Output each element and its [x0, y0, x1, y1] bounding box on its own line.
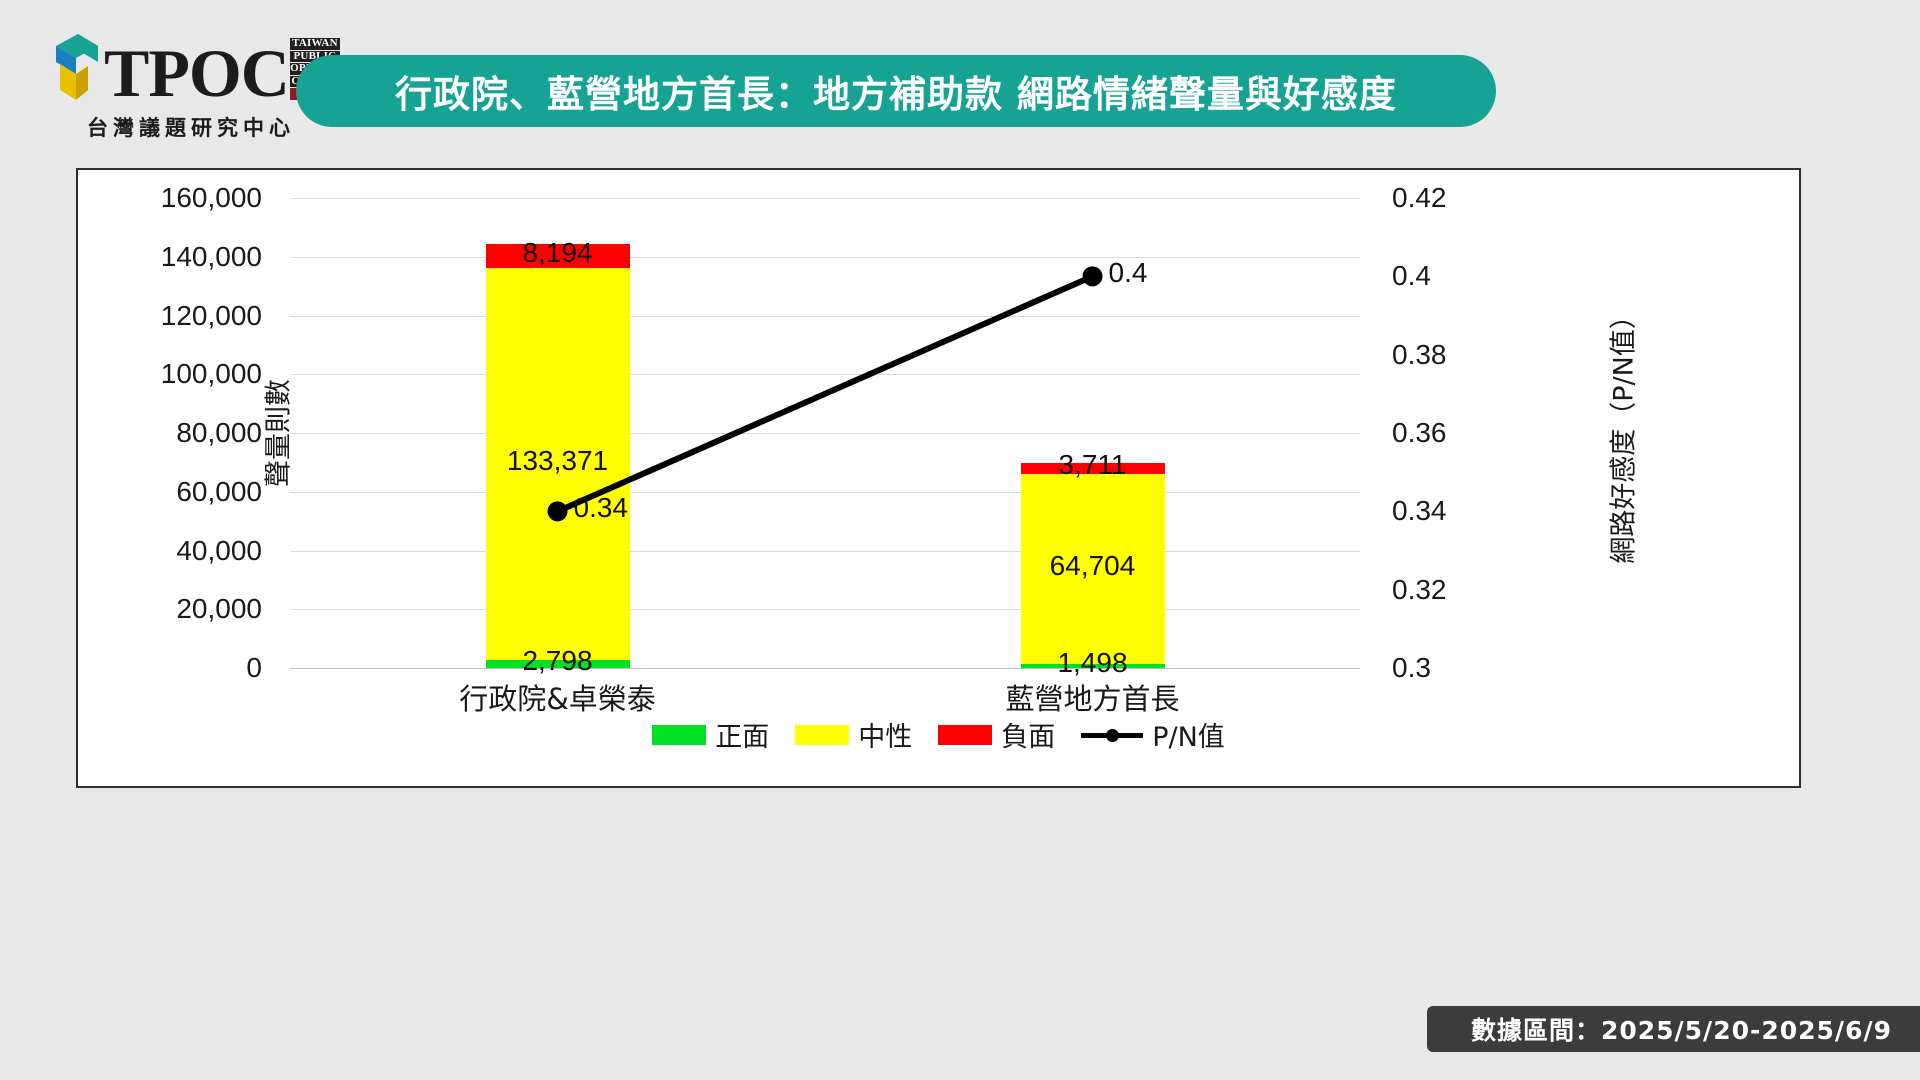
- legend-label: 正面: [715, 715, 769, 754]
- legend-item[interactable]: P/N值: [1081, 715, 1225, 754]
- x-axis-category-label: 藍營地方首長: [943, 676, 1243, 718]
- y2-axis-tick: 0.34: [1370, 495, 1550, 527]
- y-axis-tick: 60,000: [92, 476, 262, 508]
- y2-axis-tick: 0.36: [1370, 417, 1550, 449]
- x-axis-category-label: 行政院&卓榮泰: [408, 676, 708, 718]
- legend-swatch: [795, 725, 849, 745]
- slide-header: TPOC TAIWAN PUBLIC OPINION CENTER 台灣議題研究…: [0, 0, 1920, 175]
- plot-area: 020,00040,00060,00080,000100,000120,0001…: [290, 198, 1360, 668]
- legend-label: P/N值: [1152, 715, 1225, 754]
- y2-axis-tick: 0.38: [1370, 339, 1550, 371]
- y2-axis-tick: 0.32: [1370, 574, 1550, 606]
- y-axis-tick: 0: [92, 652, 262, 684]
- page-title: 行政院、藍營地方首長：地方補助款 網路情緒聲量與好感度: [395, 64, 1397, 118]
- logo-subtitle: 台灣議題研究中心: [87, 112, 295, 142]
- y-axis-tick: 20,000: [92, 593, 262, 625]
- legend-label: 中性: [858, 715, 912, 754]
- y-axis-tick: 80,000: [92, 417, 262, 449]
- y2-axis-tick: 0.3: [1370, 652, 1550, 684]
- legend-swatch: [652, 725, 706, 745]
- y-axis-tick: 160,000: [92, 182, 262, 214]
- ribbon-line-taiwan: TAIWAN: [290, 38, 340, 51]
- legend-item[interactable]: 正面: [652, 715, 769, 754]
- legend-item[interactable]: 中性: [795, 715, 912, 754]
- legend-swatch: [938, 725, 992, 745]
- pn-line-series: [290, 198, 1360, 668]
- pn-value-label: 0.34: [574, 492, 629, 524]
- legend-label: 負面: [1001, 715, 1055, 754]
- y2-axis-title: 網路好感度（P/N值）: [1602, 302, 1641, 564]
- y-axis-tick: 140,000: [92, 241, 262, 273]
- tpoc-logo: TPOC TAIWAN PUBLIC OPINION CENTER 台灣議題研究…: [42, 24, 340, 142]
- chart-legend: 正面中性負面P/N值: [78, 715, 1799, 754]
- logo-wordmark: TPOC: [104, 41, 289, 106]
- y-axis-tick: 40,000: [92, 535, 262, 567]
- title-banner: 行政院、藍營地方首長：地方補助款 網路情緒聲量與好感度: [296, 55, 1496, 127]
- chart-panel: 020,00040,00060,00080,000100,000120,0001…: [76, 168, 1801, 788]
- y2-axis-tick: 0.4: [1370, 260, 1550, 292]
- y2-axis-tick: 0.42: [1370, 182, 1550, 214]
- tpoc-cube-icon: [42, 24, 102, 106]
- slide-root: TPOC TAIWAN PUBLIC OPINION CENTER 台灣議題研究…: [0, 0, 1920, 1080]
- data-range-badge: 數據區間：2025/5/20-2025/6/9: [1427, 1006, 1920, 1052]
- legend-item[interactable]: 負面: [938, 715, 1055, 754]
- pn-value-label: 0.4: [1109, 257, 1148, 289]
- y-axis-tick: 100,000: [92, 358, 262, 390]
- legend-line-icon: [1081, 725, 1143, 745]
- y-axis-tick: 120,000: [92, 300, 262, 332]
